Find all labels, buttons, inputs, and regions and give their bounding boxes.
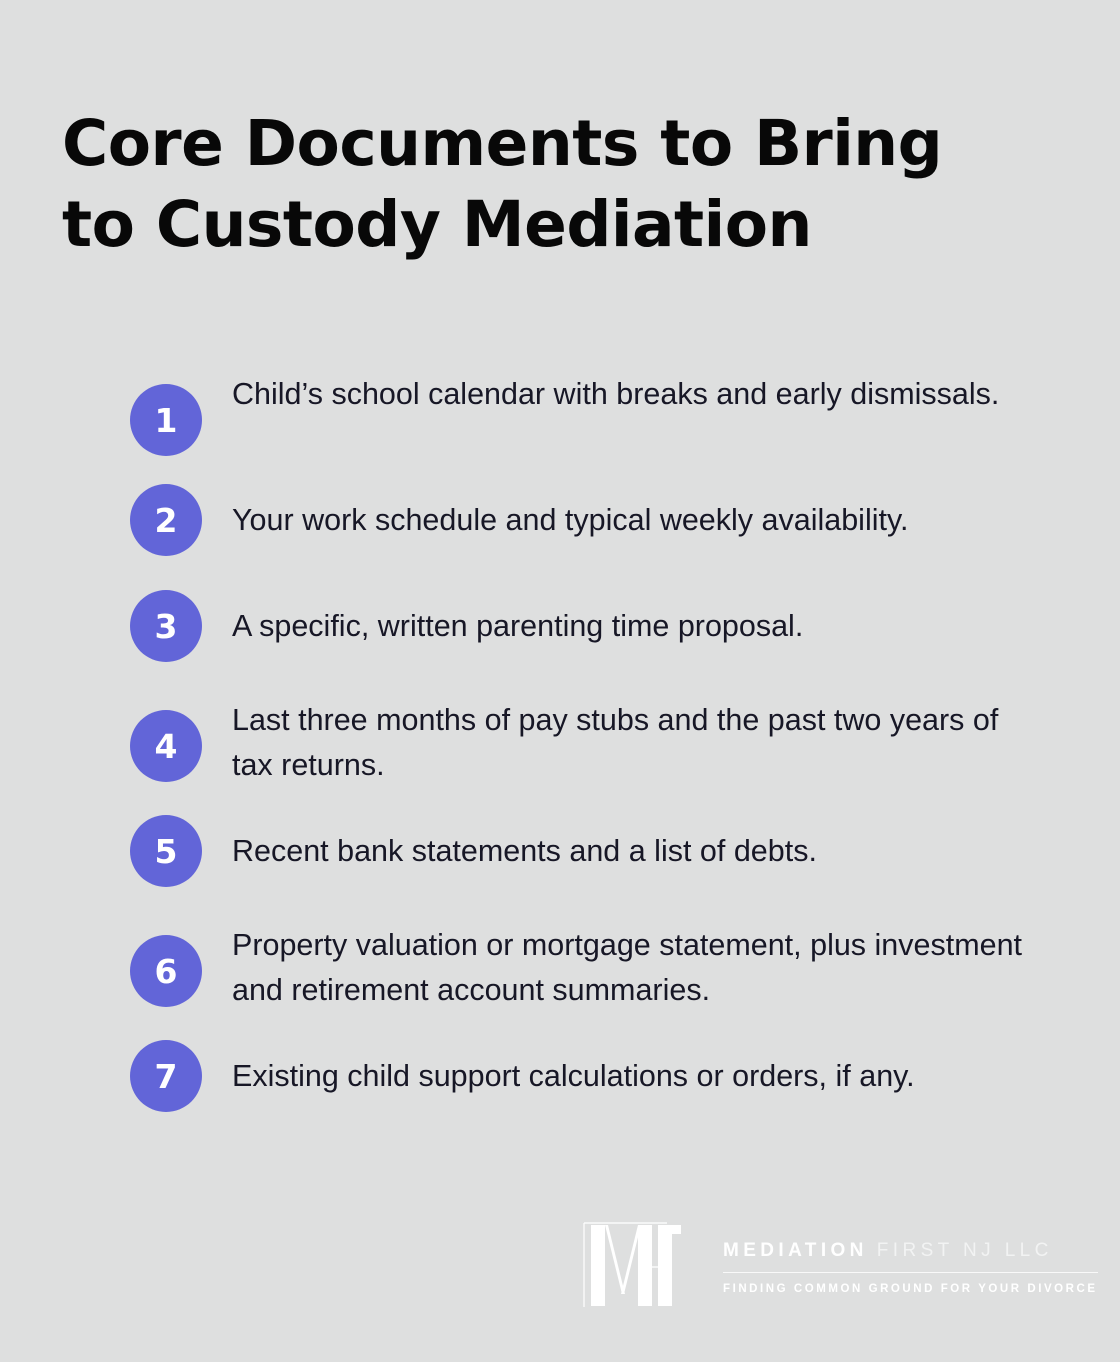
list-item: 4 Last three months of pay stubs and the…	[130, 696, 1060, 787]
documents-checklist: 1 Child’s school calendar with breaks an…	[130, 370, 1060, 1112]
step-number-badge: 3	[130, 590, 202, 662]
logo-wordmark: MEDIATIONFIRST NJ LLC FINDING COMMON GRO…	[723, 1222, 1098, 1308]
step-description: Recent bank statements and a list of deb…	[232, 829, 1047, 874]
page-title: Core Documents to Bring to Custody Media…	[62, 104, 982, 265]
list-item: 2 Your work schedule and typical weekly …	[130, 484, 1060, 556]
step-description: Last three months of pay stubs and the p…	[232, 696, 1047, 787]
list-item: 3 A specific, written parenting time pro…	[130, 590, 1060, 662]
step-description: Existing child support calculations or o…	[232, 1054, 1047, 1099]
step-description: Child’s school calendar with breaks and …	[232, 370, 1047, 417]
list-item: 5 Recent bank statements and a list of d…	[130, 815, 1060, 887]
logo-divider	[723, 1272, 1098, 1273]
logo-name-light: FIRST NJ LLC	[877, 1240, 1053, 1261]
infographic-canvas: Core Documents to Bring to Custody Media…	[0, 0, 1120, 1362]
brand-logo: MEDIATIONFIRST NJ LLC FINDING COMMON GRO…	[583, 1222, 1061, 1308]
step-number-badge: 6	[130, 935, 202, 1007]
list-item: 1 Child’s school calendar with breaks an…	[130, 370, 1060, 456]
title-block: Core Documents to Bring to Custody Media…	[62, 104, 982, 265]
step-number-badge: 7	[130, 1040, 202, 1112]
step-description: Your work schedule and typical weekly av…	[232, 498, 1047, 543]
step-number-badge: 5	[130, 815, 202, 887]
mf-monogram-icon	[583, 1222, 701, 1308]
step-number-badge: 1	[130, 384, 202, 456]
step-description: A specific, written parenting time propo…	[232, 604, 1047, 649]
step-number-badge: 2	[130, 484, 202, 556]
logo-name-strong: MEDIATION	[723, 1240, 868, 1261]
logo-tagline: FINDING COMMON GROUND FOR YOUR DIVORCE	[723, 1284, 1098, 1296]
list-item: 7 Existing child support calculations or…	[130, 1040, 1060, 1112]
step-number-badge: 4	[130, 710, 202, 782]
logo-name-line: MEDIATIONFIRST NJ LLC	[723, 1241, 1098, 1260]
list-item: 6 Property valuation or mortgage stateme…	[130, 921, 1060, 1012]
step-description: Property valuation or mortgage statement…	[232, 921, 1047, 1012]
